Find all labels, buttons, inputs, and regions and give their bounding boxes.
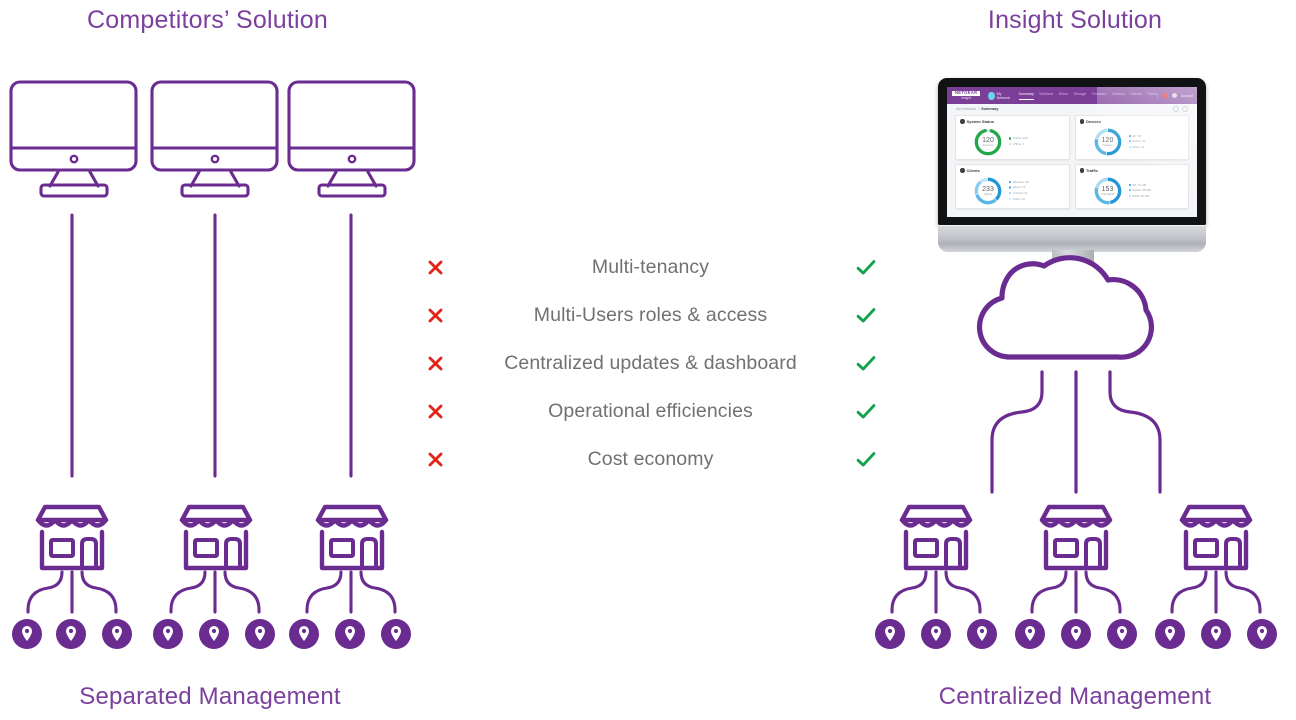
- feature-label: Multi-tenancy: [452, 256, 849, 279]
- pin-row-right: [875, 619, 1277, 649]
- cross-icon: [418, 306, 452, 325]
- feature-row: Centralized updates & dashboard: [418, 339, 883, 387]
- map-pin-icon: [921, 619, 951, 649]
- cross-icon: [418, 402, 452, 421]
- check-icon: [849, 354, 883, 373]
- map-pin-icon: [1247, 619, 1277, 649]
- check-icon: [849, 402, 883, 421]
- map-pin-icon: [875, 619, 905, 649]
- feature-label: Cost economy: [452, 448, 849, 471]
- store-pin-connectors: [1032, 572, 1120, 612]
- check-icon: [849, 258, 883, 277]
- feature-row: Cost economy: [418, 435, 883, 483]
- map-pin-icon: [1155, 619, 1185, 649]
- map-pin-icon: [1061, 619, 1091, 649]
- map-pin-icon: [1015, 619, 1045, 649]
- feature-row: Operational efficiencies: [418, 387, 883, 435]
- cross-icon: [418, 450, 452, 469]
- cross-icon: [418, 354, 452, 373]
- right-column-footer: Centralized Management: [880, 683, 1270, 711]
- cloud-store-connectors: [992, 372, 1160, 492]
- store-icon: [1042, 507, 1110, 568]
- cloud-icon: [980, 258, 1152, 357]
- slide-canvas: Competitors’ Solution Insight Solution: [0, 0, 1296, 720]
- feature-label: Multi-Users roles & access: [452, 304, 849, 327]
- feature-comparison-list: Multi-tenancy Multi-Users roles & access…: [418, 243, 883, 483]
- feature-label: Centralized updates & dashboard: [452, 352, 849, 375]
- left-column-footer: Separated Management: [0, 683, 420, 711]
- map-pin-icon: [1201, 619, 1231, 649]
- map-pin-icon: [967, 619, 997, 649]
- store-icon: [1182, 507, 1250, 568]
- store-pin-connectors: [892, 572, 980, 612]
- feature-row: Multi-Users roles & access: [418, 291, 883, 339]
- store-icon: [902, 507, 970, 568]
- store-pin-connectors: [1172, 572, 1260, 612]
- feature-row: Multi-tenancy: [418, 243, 883, 291]
- cross-icon: [418, 258, 452, 277]
- map-pin-icon: [1107, 619, 1137, 649]
- check-icon: [849, 306, 883, 325]
- feature-label: Operational efficiencies: [452, 400, 849, 423]
- check-icon: [849, 450, 883, 469]
